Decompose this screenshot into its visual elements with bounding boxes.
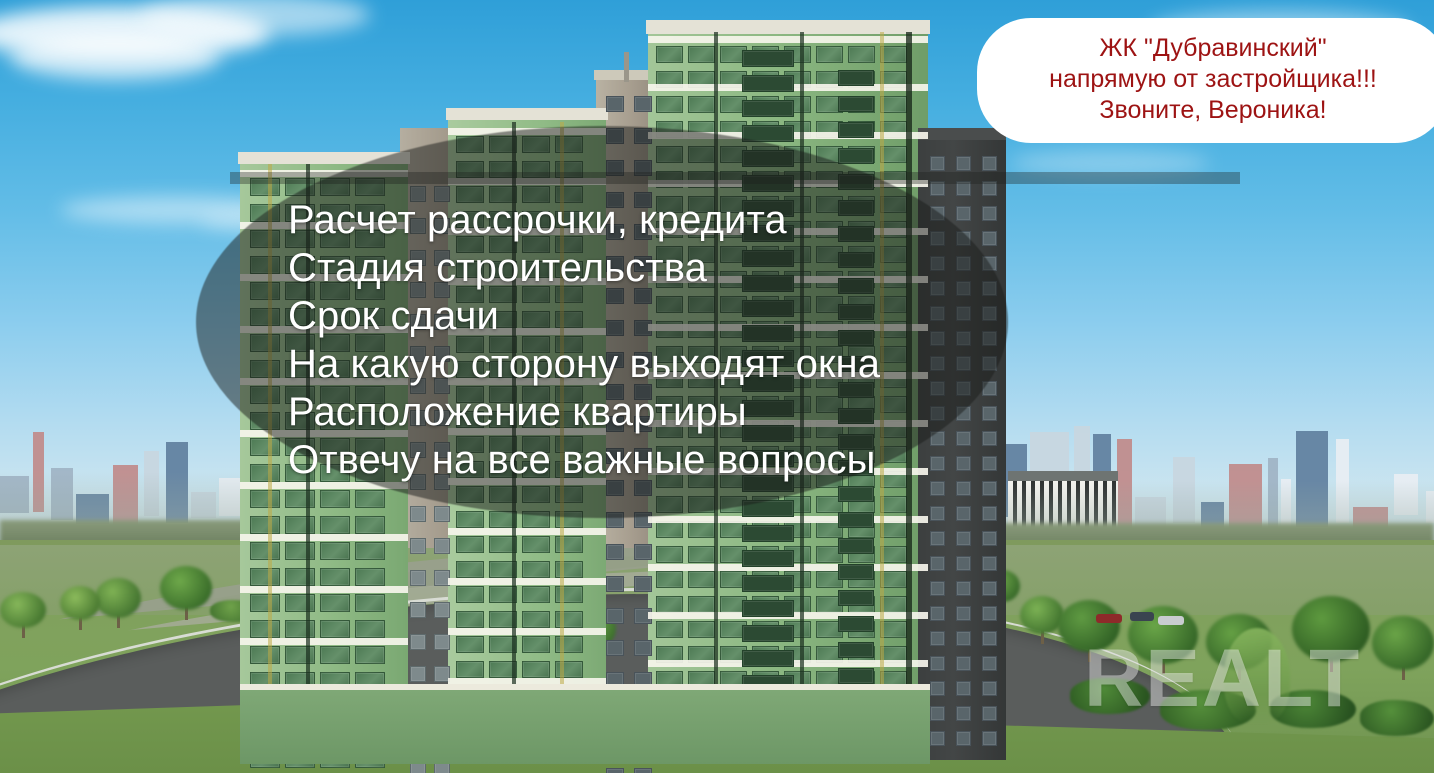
window: [250, 620, 280, 638]
balcony-window: [838, 96, 874, 112]
window: [956, 606, 971, 621]
window: [456, 561, 484, 578]
window: [982, 506, 997, 521]
window: [320, 490, 350, 508]
window: [250, 516, 280, 534]
window: [656, 96, 683, 113]
window: [930, 731, 945, 746]
window: [250, 542, 280, 560]
window: [250, 464, 280, 482]
window: [522, 561, 550, 578]
window: [456, 661, 484, 678]
window: [688, 596, 715, 613]
overlay-line: Отвечу на все важные вопросы: [288, 436, 1048, 484]
window: [880, 96, 907, 113]
window: [688, 46, 715, 63]
window: [880, 596, 907, 613]
window: [656, 521, 683, 538]
window: [355, 490, 385, 508]
window: [456, 511, 484, 528]
window: [634, 544, 652, 560]
window: [410, 634, 426, 650]
window: [634, 576, 652, 592]
balcony-window: [838, 590, 874, 606]
window: [816, 46, 843, 63]
window: [956, 731, 971, 746]
window: [285, 594, 315, 612]
window: [320, 516, 350, 534]
callout-line: Звоните, Вероника!: [1099, 95, 1326, 126]
window: [410, 506, 426, 522]
window: [606, 640, 624, 656]
window: [930, 656, 945, 671]
window: [880, 621, 907, 638]
window: [320, 568, 350, 586]
window: [956, 631, 971, 646]
window: [634, 96, 652, 112]
window: [320, 620, 350, 638]
building-base: [240, 690, 930, 764]
window: [285, 516, 315, 534]
window: [956, 681, 971, 696]
window: [606, 544, 624, 560]
window: [880, 546, 907, 563]
window: [982, 556, 997, 571]
window: [355, 594, 385, 612]
balcony-window: [838, 512, 874, 528]
window: [880, 46, 907, 63]
window: [656, 596, 683, 613]
window: [930, 531, 945, 546]
window: [982, 656, 997, 671]
window: [688, 546, 715, 563]
window: [982, 681, 997, 696]
balcony-window: [742, 625, 794, 642]
window: [982, 606, 997, 621]
window: [456, 611, 484, 628]
window: [880, 146, 907, 163]
facade-band: [240, 638, 408, 645]
window: [956, 531, 971, 546]
window: [434, 506, 450, 522]
facade-band: [448, 578, 606, 585]
window: [848, 46, 875, 63]
overlay-line: Расчет рассрочки, кредита: [288, 196, 1048, 244]
window: [355, 620, 385, 638]
window: [250, 646, 280, 664]
window: [250, 568, 280, 586]
window: [522, 636, 550, 653]
window: [880, 521, 907, 538]
window: [410, 538, 426, 554]
window: [982, 706, 997, 721]
window: [688, 521, 715, 538]
window: [956, 506, 971, 521]
window: [688, 96, 715, 113]
window: [606, 576, 624, 592]
window: [956, 156, 971, 171]
facade-band: [448, 628, 606, 635]
window: [434, 538, 450, 554]
balcony-window: [742, 550, 794, 567]
balcony-window: [838, 486, 874, 502]
window: [410, 666, 426, 682]
overlay-line: Стадия строительства: [288, 244, 1048, 292]
window: [522, 661, 550, 678]
window: [930, 606, 945, 621]
callout-line: ЖК "Дубравинский": [1099, 33, 1326, 64]
balcony-window: [838, 538, 874, 554]
window: [930, 506, 945, 521]
window: [522, 586, 550, 603]
window: [880, 496, 907, 513]
window: [634, 640, 652, 656]
window: [320, 594, 350, 612]
window: [355, 516, 385, 534]
window: [456, 586, 484, 603]
balcony-window: [838, 564, 874, 580]
window: [930, 156, 945, 171]
overlay-line: Срок сдачи: [288, 292, 1048, 340]
window: [410, 570, 426, 586]
window: [656, 621, 683, 638]
window: [656, 546, 683, 563]
window: [688, 571, 715, 588]
overlay-text-block: Расчет рассрочки, кредита Стадия строите…: [288, 196, 1048, 484]
window: [982, 731, 997, 746]
balcony-window: [742, 525, 794, 542]
window: [522, 611, 550, 628]
window: [285, 646, 315, 664]
balcony-window: [742, 100, 794, 117]
window: [320, 646, 350, 664]
window: [285, 490, 315, 508]
balcony-window: [742, 75, 794, 92]
window: [250, 438, 280, 456]
balcony-window: [838, 122, 874, 138]
window: [522, 536, 550, 553]
callout-line: напрямую от застройщика!!!: [1049, 64, 1377, 95]
window: [930, 556, 945, 571]
window: [606, 768, 624, 773]
callout-bubble: ЖК "Дубравинский" напрямую от застройщик…: [977, 18, 1434, 143]
window: [355, 646, 385, 664]
balcony-window: [838, 148, 874, 164]
balcony-window: [838, 642, 874, 658]
window: [410, 602, 426, 618]
facade-band: [240, 586, 408, 593]
balcony-window: [742, 575, 794, 592]
window: [688, 621, 715, 638]
window: [880, 571, 907, 588]
balcony-window: [838, 668, 874, 684]
window: [982, 631, 997, 646]
facade-band: [448, 528, 606, 535]
facade-band: [240, 534, 408, 541]
window: [656, 571, 683, 588]
balcony-window: [742, 650, 794, 667]
realt-watermark: REALT: [1084, 632, 1361, 726]
balcony-window: [838, 616, 874, 632]
window: [320, 542, 350, 560]
window: [982, 531, 997, 546]
window: [634, 768, 652, 773]
window: [956, 556, 971, 571]
roof-cap: [446, 108, 608, 120]
overlay-line: На какую сторону выходят окна: [288, 340, 1048, 388]
window: [606, 608, 624, 624]
window: [456, 636, 484, 653]
balcony-window: [838, 70, 874, 86]
roof-antenna: [624, 52, 629, 82]
window: [355, 542, 385, 560]
window: [930, 631, 945, 646]
window: [285, 542, 315, 560]
facade-band: [648, 516, 928, 523]
window: [285, 568, 315, 586]
roof-cap: [646, 20, 930, 34]
window: [982, 581, 997, 596]
promo-image: Расчет рассрочки, кредита Стадия строите…: [0, 0, 1434, 773]
window: [930, 581, 945, 596]
window: [250, 490, 280, 508]
window: [355, 568, 385, 586]
window: [956, 581, 971, 596]
window: [434, 634, 450, 650]
facade-band: [648, 36, 928, 43]
window: [285, 620, 315, 638]
window: [456, 536, 484, 553]
window: [606, 96, 624, 112]
window: [434, 602, 450, 618]
balcony-window: [742, 50, 794, 67]
window: [956, 706, 971, 721]
window: [930, 706, 945, 721]
window: [982, 156, 997, 171]
overlay-line: Расположение квартиры: [288, 388, 1048, 436]
window: [250, 594, 280, 612]
window: [930, 681, 945, 696]
window: [656, 46, 683, 63]
window: [956, 656, 971, 671]
balcony-window: [742, 600, 794, 617]
